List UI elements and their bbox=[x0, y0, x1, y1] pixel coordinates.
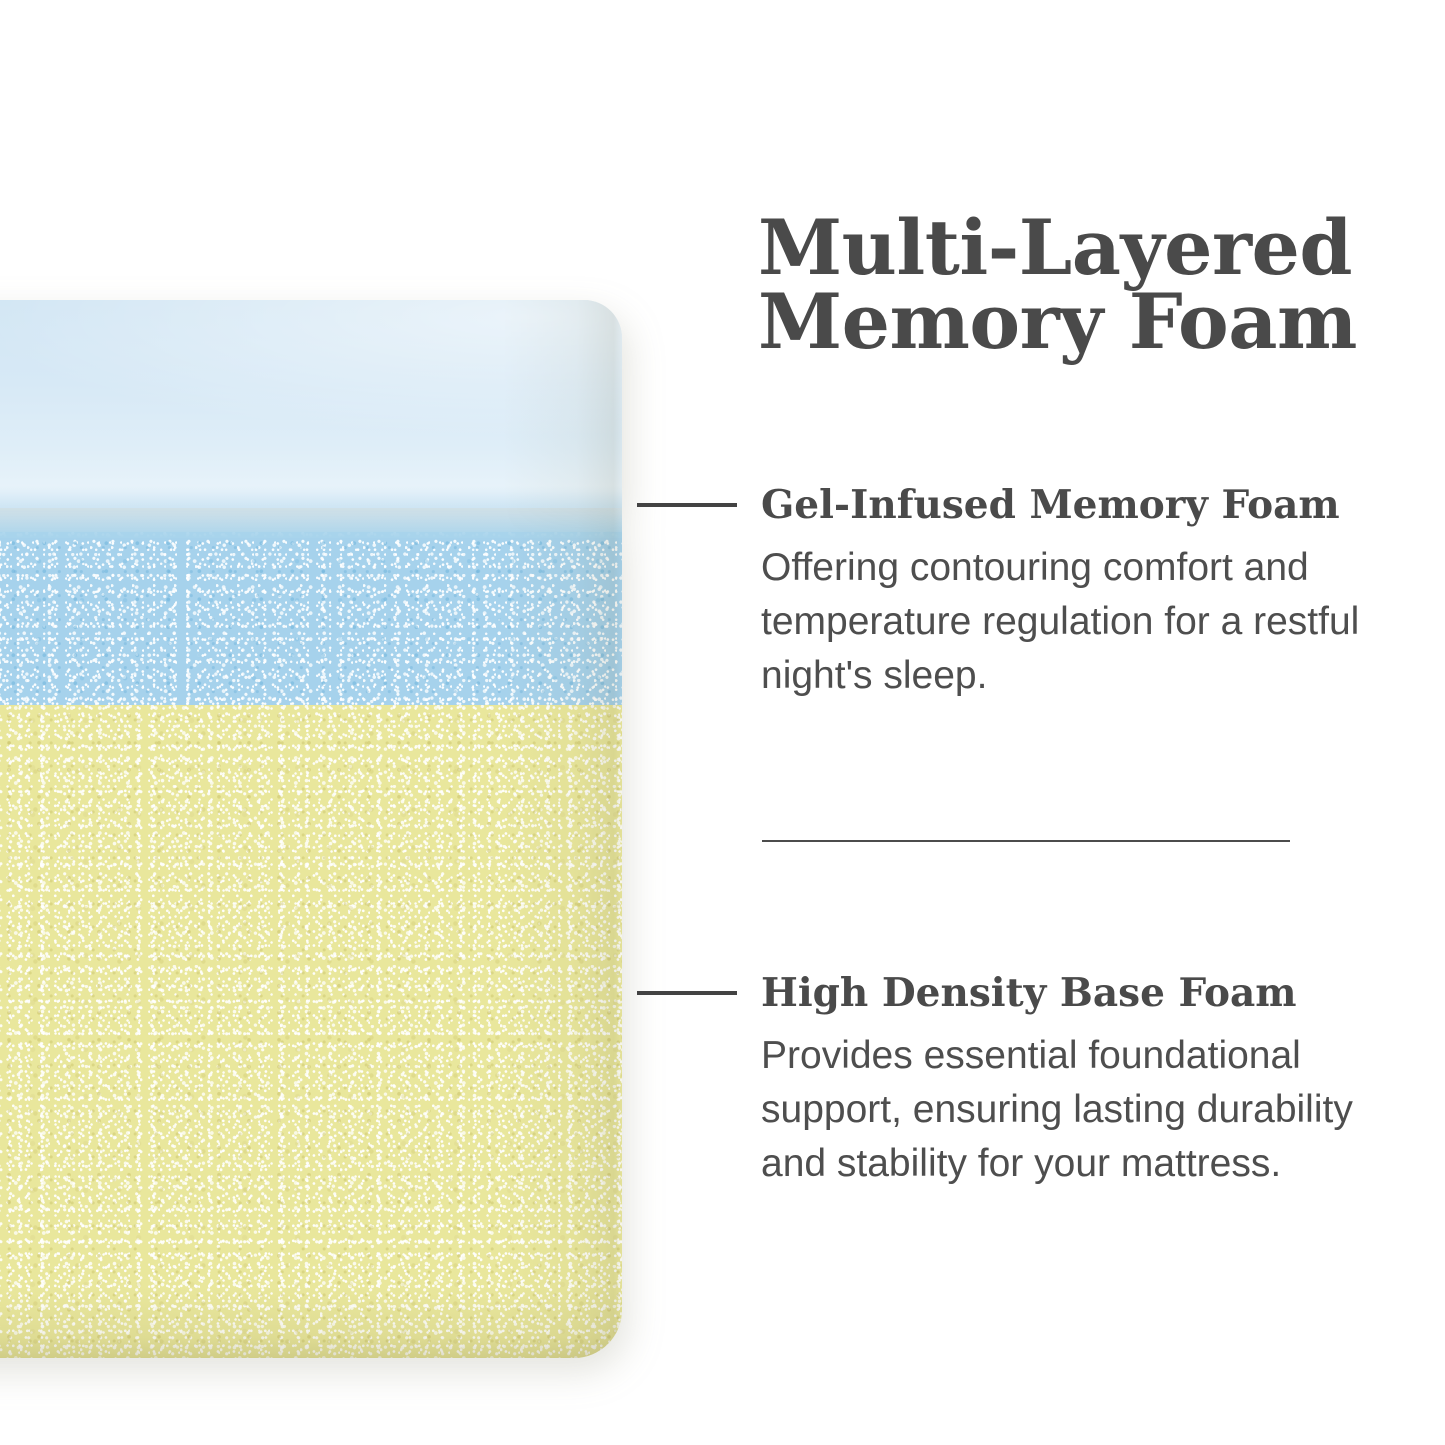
page-title-line-2: Memory Foam bbox=[758, 285, 1418, 359]
feature-heading-row: High Density Base Foam bbox=[637, 972, 1427, 1015]
feature-gel-infused-memory-foam: Gel-Infused Memory Foam Offering contour… bbox=[637, 484, 1427, 741]
leader-line-icon bbox=[637, 503, 737, 507]
feature-description: Offering contouring comfort and temperat… bbox=[761, 541, 1427, 702]
feature-high-density-base-foam: High Density Base Foam Provides essentia… bbox=[637, 972, 1427, 1229]
feature-title: Gel-Infused Memory Foam bbox=[761, 484, 1340, 527]
feature-description: Provides essential foundational support,… bbox=[761, 1029, 1427, 1190]
leader-line-icon bbox=[637, 991, 737, 995]
section-divider bbox=[762, 840, 1290, 842]
foam-face-transition bbox=[0, 486, 622, 538]
infographic-canvas: Multi-Layered Memory Foam Gel-Infused Me… bbox=[0, 0, 1445, 1445]
page-title: Multi-Layered Memory Foam bbox=[758, 211, 1418, 360]
feature-title: High Density Base Foam bbox=[761, 972, 1297, 1015]
page-title-line-1: Multi-Layered bbox=[758, 211, 1418, 285]
layered-memory-foam-block bbox=[0, 300, 622, 1358]
feature-heading-row: Gel-Infused Memory Foam bbox=[637, 484, 1427, 527]
gel-infused-foam-layer bbox=[0, 532, 622, 706]
high-density-base-foam-layer bbox=[0, 705, 622, 1358]
foam-top-face bbox=[0, 300, 622, 508]
